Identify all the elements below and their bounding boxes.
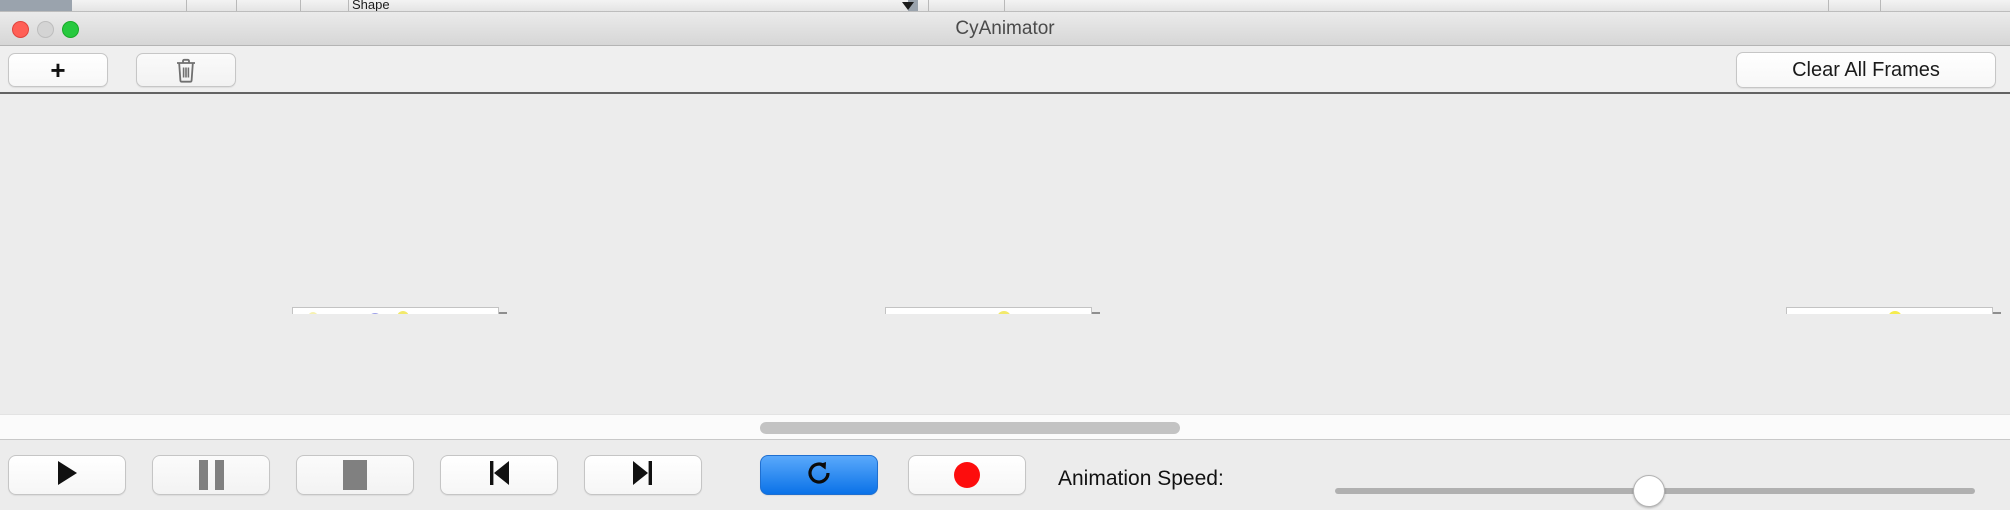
loop-icon: [805, 459, 833, 492]
stop-button[interactable]: [296, 455, 414, 495]
pause-button[interactable]: [152, 455, 270, 495]
skip-to-end-button[interactable]: [584, 455, 702, 495]
pause-icon: [199, 460, 224, 490]
record-button[interactable]: [908, 455, 1026, 495]
network-preview: MCM1: [1786, 307, 1993, 314]
network-preview: MCM1: [885, 307, 1092, 314]
clear-all-frames-label: Clear All Frames: [1792, 59, 1940, 82]
frame-thumbnail-2[interactable]: MCM1: [885, 307, 1096, 314]
title-bar: CyAnimator: [0, 12, 2010, 46]
skip-to-start-button[interactable]: [440, 455, 558, 495]
window-title: CyAnimator: [0, 12, 2010, 46]
trash-icon: [175, 58, 197, 83]
animation-speed-label: Animation Speed:: [1058, 467, 1224, 491]
play-button[interactable]: [8, 455, 126, 495]
frame-thumbnail-3[interactable]: MCM1: [1786, 307, 1997, 314]
background-window-strip: Shape: [0, 0, 2010, 12]
slider-thumb[interactable]: [1633, 475, 1665, 507]
skip-back-icon: [486, 459, 512, 492]
cyanimator-window: Shape CyAnimator + Clear All: [0, 0, 2010, 510]
add-frame-button[interactable]: +: [8, 53, 108, 87]
play-icon: [55, 459, 79, 492]
scrollbar-thumb[interactable]: [760, 422, 1180, 434]
loop-button[interactable]: [760, 455, 878, 495]
playback-controls: Animation Speed:: [0, 441, 2010, 510]
toolbar: + Clear All Frames: [0, 46, 2010, 94]
skip-fwd-icon: [630, 459, 656, 492]
clear-all-frames-button[interactable]: Clear All Frames: [1736, 52, 1996, 88]
animation-speed-slider[interactable]: [1335, 488, 1975, 494]
background-window-label: Shape: [352, 0, 390, 12]
frame-thumbnail-1[interactable]: MCM1: [292, 307, 503, 314]
stop-icon: [343, 460, 367, 490]
plus-icon: +: [50, 57, 65, 83]
timeline-scrollbar[interactable]: [0, 414, 2010, 440]
record-icon: [954, 462, 980, 488]
network-preview: MCM1: [292, 307, 499, 314]
delete-frame-button[interactable]: [136, 53, 236, 87]
timeline-panel[interactable]: MCM1: [0, 94, 2010, 314]
